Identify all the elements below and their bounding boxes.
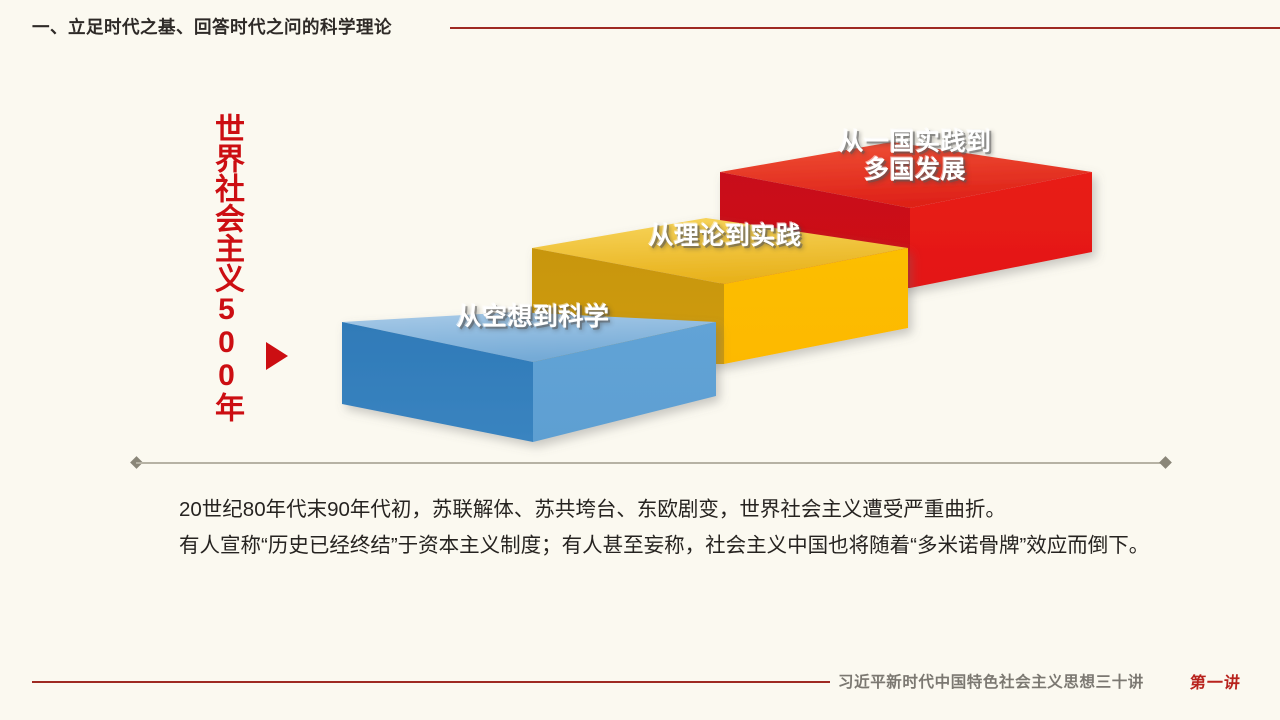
three-stage-step-diagram (0, 0, 1280, 720)
footer-series-title: 习近平新时代中国特色社会主义思想三十讲 (838, 670, 1144, 692)
footer-lecture-number: 第一讲 (1189, 669, 1242, 693)
step-block-3-right (910, 172, 1092, 288)
step-label-2: 从理论到实践 (590, 222, 860, 250)
divider-endpoint-right (1159, 456, 1172, 469)
page-title: 一、立足时代之基、回答时代之问的科学理论 (32, 14, 392, 39)
step-block-1 (342, 312, 716, 442)
step-block-1-right (533, 322, 716, 442)
step-label-1: 从空想到科学 (398, 303, 668, 331)
header-divider-rule (450, 27, 1280, 29)
footer-divider-rule (32, 681, 830, 683)
vertical-section-title: 世界社会主义500年 (196, 92, 242, 442)
play-triangle-icon (266, 342, 288, 370)
step-label-3: 从一国实践到 多国发展 (780, 128, 1050, 184)
section-divider (136, 462, 1166, 464)
step-block-1-left (342, 322, 533, 442)
slide-header: 一、立足时代之基、回答时代之问的科学理论 (0, 0, 1280, 52)
body-text-block: 20世纪80年代末90年代初，苏联解体、苏共垮台、东欧剧变，世界社会主义遭受严重… (138, 492, 1178, 565)
body-paragraph-1: 20世纪80年代末90年代初，苏联解体、苏共垮台、东欧剧变，世界社会主义遭受严重… (138, 492, 1178, 528)
step-block-2-right (724, 248, 908, 364)
body-paragraph-2: 有人宣称“历史已经终结”于资本主义制度；有人甚至妄称，社会主义中国也将随着“多米… (138, 528, 1178, 564)
